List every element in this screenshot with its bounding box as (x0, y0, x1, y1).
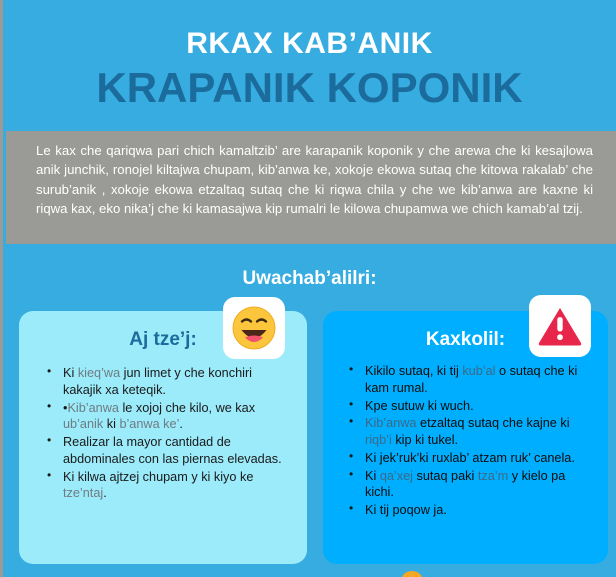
description-text: Le kax che qariqwa pari chich kamaltzib’… (6, 131, 616, 218)
list-item: Ki kilwa ajtzej chupam y ki kiyo ke tze’… (47, 469, 293, 503)
list-item-text: Ki (365, 469, 380, 483)
list-item-text: etzaltaq sutaq che kajne ki (417, 416, 570, 430)
list-item-text: . (179, 417, 183, 431)
list-item-text: riqb’i (365, 433, 392, 447)
list-item-text: ub’anik (63, 417, 103, 431)
smiling-face-icon (231, 305, 277, 351)
list-item: Kib’anwa etzaltaq sutaq che kajne ki riq… (349, 415, 596, 449)
smiling-face-badge (223, 297, 285, 359)
description-band: Le kax che qariqwa pari chich kamaltzib’… (6, 131, 616, 244)
bottom-decoration (401, 571, 423, 577)
list-item-text: kieq’wa (78, 366, 120, 380)
slide-canvas: RKAX KAB’ANIK KRAPANIK KOPONIK Le kax ch… (0, 0, 616, 577)
list-item-text: Kikilo sutaq, ki tij (365, 364, 462, 378)
card-right-bullet-list: Kikilo sutaq, ki tij kub’al o sutaq che … (323, 351, 608, 519)
card-left-bullet-list: Ki kieq’wa jun limet y che konchiri kaka… (19, 351, 307, 502)
list-item: Ki jek’ruk’ki ruxlab’ atzam ruk’ canela. (349, 450, 596, 467)
list-item: •Kib’anwa le xojoj che kilo, we kax ub’a… (47, 400, 293, 434)
list-item-text: kub’al (462, 364, 495, 378)
list-item-text: Ki jek’ruk’ki ruxlab’ atzam ruk’ canela. (365, 451, 575, 465)
page-title-sub: KRAPANIK KOPONIK (3, 60, 616, 110)
list-item: Ki kieq’wa jun limet y che konchiri kaka… (47, 365, 293, 399)
list-item: Kikilo sutaq, ki tij kub’al o sutaq che … (349, 363, 596, 397)
title-block: RKAX KAB’ANIK KRAPANIK KOPONIK (3, 0, 616, 110)
list-item: Kpe sutuw ki wuch. (349, 398, 596, 415)
list-item-text: Kib’anwa (365, 416, 417, 430)
list-item-text: Realizar la mayor cantidad de abdominale… (63, 435, 282, 466)
list-item-text: . (103, 486, 107, 500)
list-item-text: Ki kilwa ajtzej chupam y ki kiyo ke (63, 470, 253, 484)
warning-triangle-icon (537, 305, 583, 347)
list-item-text: tza’m (478, 469, 508, 483)
list-item-text: kip ki tukel. (392, 433, 458, 447)
list-item-text: Ki tij poqow ja. (365, 503, 447, 517)
section-heading: Uwachab’alilri: (3, 268, 616, 290)
list-item: Ki qa’xej sutaq paki tza’m y kielo pa ki… (349, 468, 596, 502)
list-item-text: Kib’anwa (67, 401, 119, 415)
list-item: Ki tij poqow ja. (349, 502, 596, 519)
warning-badge (529, 295, 591, 357)
list-item-text: sutaq paki (413, 469, 478, 483)
list-item: Realizar la mayor cantidad de abdominale… (47, 434, 293, 468)
list-item-text: ki (103, 417, 119, 431)
page-title-main: RKAX KAB’ANIK (3, 0, 616, 60)
list-item-text: tze’ntaj (63, 486, 103, 500)
list-item-text: b’anwa ke’ (119, 417, 179, 431)
list-item-text: qa’xej (380, 469, 413, 483)
list-item-text: Ki (63, 366, 78, 380)
list-item-text: Kpe sutuw ki wuch. (365, 399, 474, 413)
list-item-text: le xojoj che kilo, we kax (119, 401, 255, 415)
